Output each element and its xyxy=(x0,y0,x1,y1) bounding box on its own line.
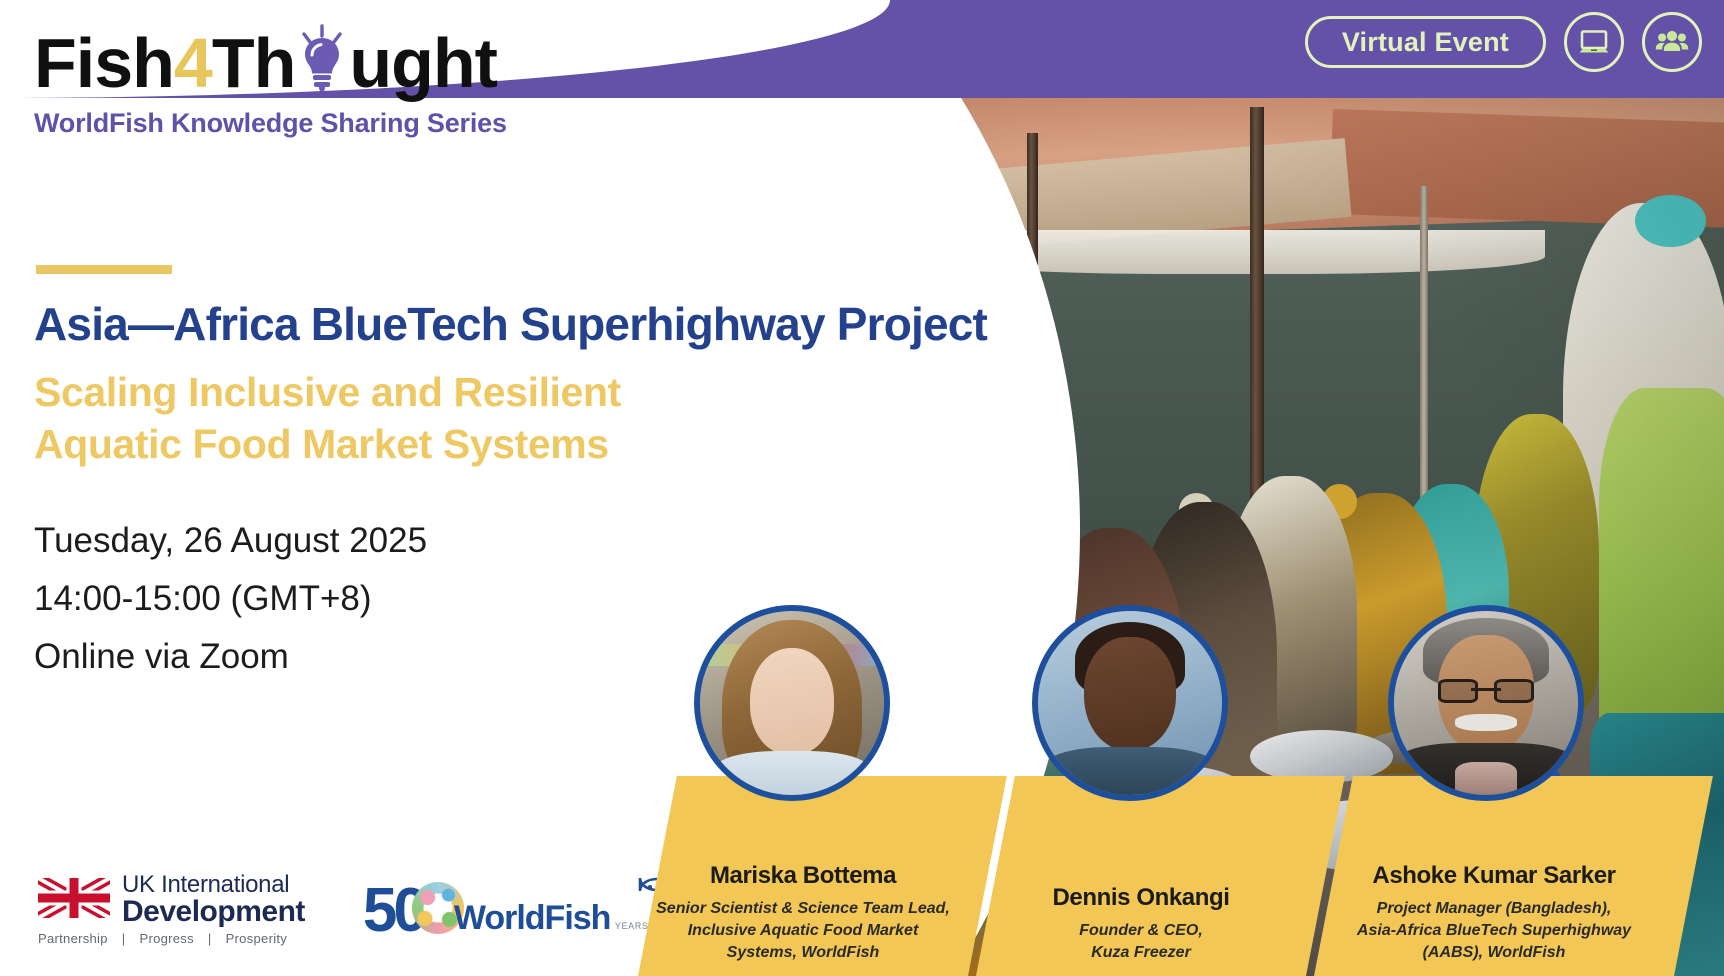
brand-word-th: Th xyxy=(212,28,296,98)
header-badges: Virtual Event xyxy=(1305,12,1702,72)
speaker-role-line-3: Systems, WorldFish xyxy=(652,942,954,964)
brand-word-four: 4 xyxy=(174,28,212,98)
fish4thought-logo: Fish4Th ught WorldFish Knowledge Sharing… xyxy=(34,28,507,139)
laptop-icon xyxy=(1564,12,1624,72)
speaker-role-line-1: Founder & CEO, xyxy=(990,920,1292,942)
speaker-name: Ashoke Kumar Sarker xyxy=(1328,862,1660,890)
event-date: Tuesday, 26 August 2025 xyxy=(34,512,427,570)
speaker-strip: Mariska Bottema Senior Scientist & Scien… xyxy=(0,576,1724,976)
speaker-role: Founder & CEO, Kuza Freezer xyxy=(990,920,1292,964)
page-title: Asia—Africa BlueTech Superhighway Projec… xyxy=(34,300,1044,350)
speaker-role: Senior Scientist & Science Team Lead, In… xyxy=(652,898,954,964)
subtitle-line-1: Scaling Inclusive and Resilient xyxy=(34,366,774,418)
speaker-role-line-1: Senior Scientist & Science Team Lead, xyxy=(652,898,954,920)
speaker-role-line-3: (AABS), WorldFish xyxy=(1328,942,1660,964)
subtitle-line-2: Aquatic Food Market Systems xyxy=(34,418,774,470)
speaker-role-line-2: Inclusive Aquatic Food Market xyxy=(652,920,954,942)
speaker-role-line-1: Project Manager (Bangladesh), xyxy=(1328,898,1660,920)
speaker-role-line-2: Asia-Africa BlueTech Superhighway xyxy=(1328,920,1660,942)
speaker-role-line-2: Kuza Freezer xyxy=(990,942,1292,964)
brand-wordmark: Fish4Th ught xyxy=(34,28,507,98)
avatar xyxy=(694,605,890,801)
gold-accent-bar xyxy=(36,265,172,274)
speaker-name: Mariska Bottema xyxy=(652,862,954,890)
brand-word-fish: Fish xyxy=(34,28,174,98)
page-subtitle: Scaling Inclusive and Resilient Aquatic … xyxy=(34,366,774,471)
people-group-icon xyxy=(1642,12,1702,72)
avatar xyxy=(1032,605,1228,801)
event-poster: Virtual Event Fish4Th xyxy=(0,0,1724,976)
brand-word-ught: ught xyxy=(349,28,497,98)
speaker-role: Project Manager (Bangladesh), Asia-Afric… xyxy=(1328,898,1660,964)
speaker-name: Dennis Onkangi xyxy=(990,884,1292,912)
virtual-event-badge: Virtual Event xyxy=(1305,16,1546,68)
brand-tagline: WorldFish Knowledge Sharing Series xyxy=(34,108,507,139)
lightbulb-icon xyxy=(295,28,349,98)
avatar xyxy=(1388,605,1584,801)
